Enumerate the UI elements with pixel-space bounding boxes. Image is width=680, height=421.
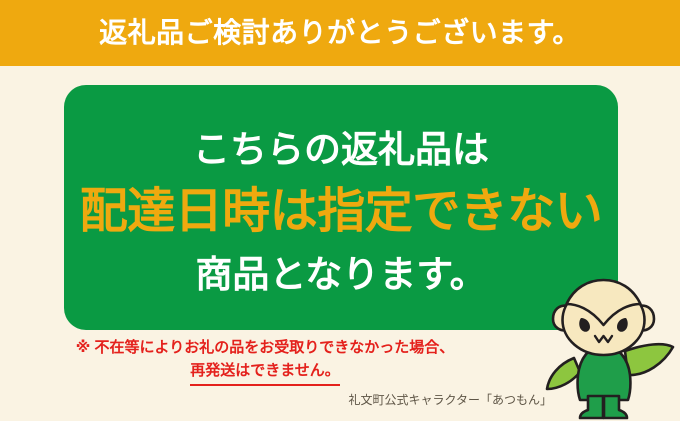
header-title: 返礼品ご検討ありがとうございます。 (99, 19, 581, 47)
mascot-credit-label: 礼文町公式キャラクター「あつもん」 (0, 391, 552, 408)
header-bar: 返礼品ご検討ありがとうございます。 (0, 0, 680, 66)
panel-line-highlight: 配達日時は指定できない (80, 188, 603, 236)
notice-text-block: ※ 不在等によりお礼の品をお受取りできなかった場合、 再発送はできません。 (0, 336, 530, 386)
mascot-atsumon-icon (533, 272, 680, 421)
notice-line-1: ※ 不在等によりお礼の品をお受取りできなかった場合、 (0, 336, 530, 359)
mascot-right-leaf (625, 344, 673, 375)
panel-line-outro: 商品となります。 (195, 256, 486, 293)
panel-line-intro: こちらの返礼品は (193, 131, 489, 168)
mascot-left-leaf (547, 358, 580, 389)
notice-line-2-underlined: 再発送はできません。 (190, 359, 340, 385)
notice-banner: 返礼品ご検討ありがとうございます。 こちらの返礼品は 配達日時は指定できない 商… (0, 0, 680, 421)
mascot-atsumon-svg (533, 272, 680, 421)
